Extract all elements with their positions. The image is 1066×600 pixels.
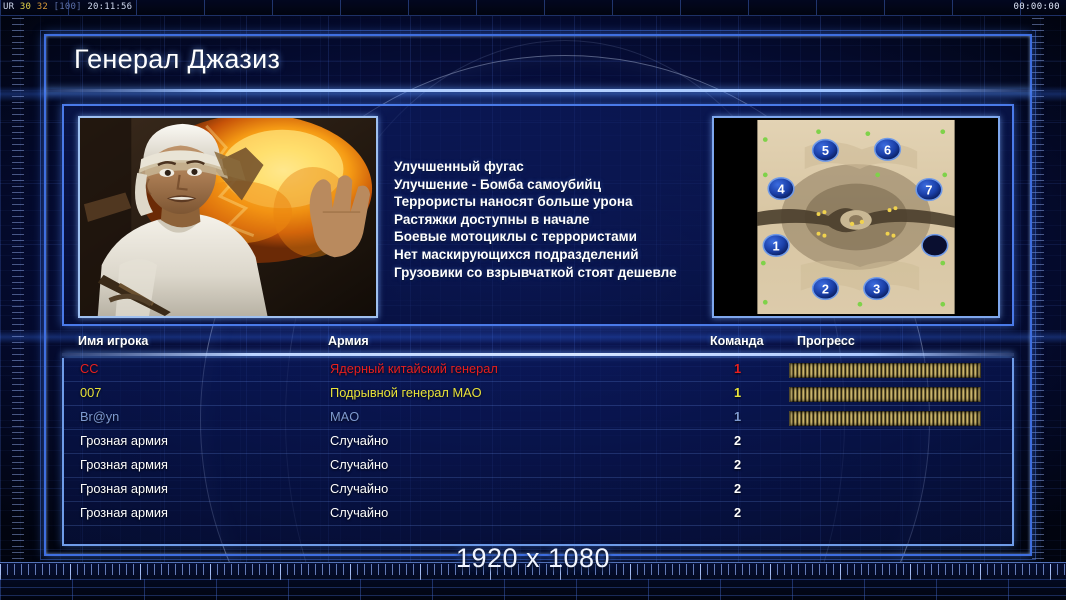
page-title: Генерал Джазиз [74,44,280,75]
hud-bottom-grid [0,579,1066,600]
player-name-cell: Br@yn [80,409,119,424]
player-team-cell: 1 [734,385,741,400]
table-row[interactable]: Грозная армияСлучайно2 [64,430,1012,454]
hud-status-bracket: [100] [54,2,82,12]
svg-text:4: 4 [777,182,785,197]
player-name-cell: CC [80,361,98,376]
player-army-cell: Ядерный китайский генерал [330,361,498,376]
player-army-cell: MAO [330,409,359,424]
svg-text:3: 3 [873,281,880,296]
svg-text:1: 1 [773,238,780,253]
ability-line: Грузовики со взрывчаткой стоят дешевле [394,264,724,282]
player-team-cell: 2 [734,433,741,448]
player-table-header: Имя игрока Армия Команда Прогресс [62,334,1014,356]
ability-line: Боевые мотоциклы с террористами [394,228,724,246]
player-table: Имя игрока Армия Команда Прогресс CCЯдер… [62,334,1014,546]
ability-line: Растяжки доступны в начале [394,211,724,229]
player-team-cell: 2 [734,505,741,520]
player-army-cell: Случайно [330,457,388,472]
minimap-preview: 5 6 4 7 1 2 3 [712,116,1000,318]
player-team-cell: 1 [734,361,741,376]
player-progress-bar [789,387,981,402]
general-info-panel: Улучшенный фугас Улучшение - Бомба самоу… [62,104,1014,326]
table-row[interactable]: 007Подрывной генерал MAO1 [64,382,1012,406]
ruler-left-decoration [12,18,24,560]
hud-top-ticks [0,0,1066,15]
table-header-underline [62,353,1014,356]
general-portrait [78,116,378,318]
ability-line: Улучшение - Бомба самоубийц [394,176,724,194]
svg-text:2: 2 [822,281,829,296]
portrait-artwork [80,118,376,316]
player-name-cell: Грозная армия [80,505,168,520]
player-table-body: CCЯдерный китайский генерал1007Подрывной… [62,358,1014,546]
title-bar: Генерал Джазиз [44,34,1032,92]
hud-status-prefix: UR [3,2,14,12]
column-header-progress: Прогресс [797,334,855,348]
player-progress-bar [789,363,981,378]
player-team-cell: 1 [734,409,741,424]
hud-status-a: 30 [20,2,31,12]
player-army-cell: Случайно [330,505,388,520]
ability-line: Нет маскирующихся подразделений [394,246,724,264]
table-row[interactable]: Грозная армияСлучайно2 [64,478,1012,502]
table-row[interactable]: Br@ynMAO1 [64,406,1012,430]
general-ability-list: Улучшенный фугас Улучшение - Бомба самоу… [394,158,724,281]
player-army-cell: Подрывной генерал MAO [330,385,482,400]
resolution-overlay: 1920 x 1080 [0,543,1066,574]
player-name-cell: 007 [80,385,101,400]
player-army-cell: Случайно [330,433,388,448]
svg-text:7: 7 [925,182,932,197]
table-row[interactable]: Грозная армияСлучайно2 [64,502,1012,526]
column-header-team: Команда [710,334,764,348]
hud-clock: 00:00:00 [1013,1,1060,14]
hud-status-b: 32 [37,2,48,12]
loading-screen: UR 30 32 [100] 20:11:56 00:00:00 Генерал… [0,0,1066,600]
column-header-army: Армия [328,334,369,348]
svg-text:6: 6 [884,142,891,157]
player-team-cell: 2 [734,457,741,472]
player-team-cell: 2 [734,481,741,496]
table-row[interactable]: Грозная армияСлучайно2 [64,454,1012,478]
player-name-cell: Грозная армия [80,481,168,496]
table-row[interactable]: CCЯдерный китайский генерал1 [64,358,1012,382]
player-progress-bar [789,411,981,426]
svg-text:5: 5 [822,143,829,158]
hud-status-time: 20:11:56 [87,2,132,12]
player-name-cell: Грозная армия [80,433,168,448]
player-name-cell: Грозная армия [80,457,168,472]
minimap-artwork: 5 6 4 7 1 2 3 [714,118,998,316]
title-underline [44,89,1032,92]
ability-line: Террористы наносят больше урона [394,193,724,211]
hud-status-text: UR 30 32 [100] 20:11:56 [3,1,132,14]
ability-line: Улучшенный фугас [394,158,724,176]
column-header-name: Имя игрока [78,334,148,348]
hud-top-bar: UR 30 32 [100] 20:11:56 00:00:00 [0,0,1066,16]
player-army-cell: Случайно [330,481,388,496]
